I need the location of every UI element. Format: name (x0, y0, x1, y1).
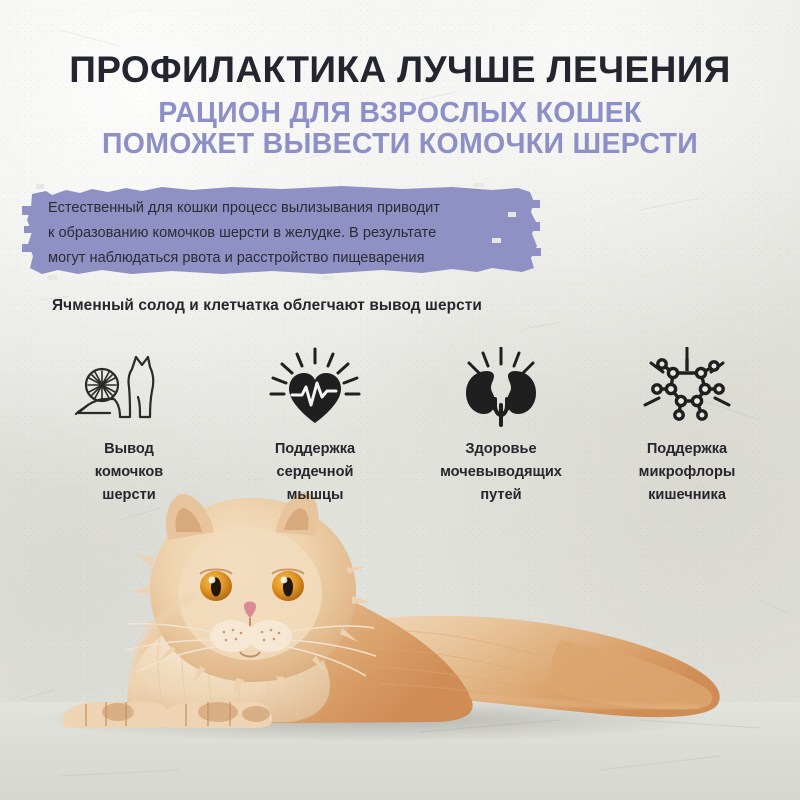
feature-item-urinary: Здоровье мочевыводящих путей (408, 345, 594, 507)
heading-block: ПРОФИЛАКТИКА ЛУЧШЕ ЛЕЧЕНИЯ РАЦИОН ДЛЯ ВЗ… (0, 48, 800, 160)
page-title: ПРОФИЛАКТИКА ЛУЧШЕ ЛЕЧЕНИЯ (0, 48, 800, 92)
feature-label-line-1: Здоровье (408, 438, 594, 461)
banner-line-2: к образованию комочков шерсти в желудке.… (48, 221, 518, 246)
microflora-molecule-icon (594, 345, 780, 429)
heart-pulse-icon (222, 345, 408, 429)
page-subtitle-line-1: РАЦИОН ДЛЯ ВЗРОСЛЫХ КОШЕК (0, 98, 800, 129)
kidneys-icon (408, 345, 594, 429)
feature-label-urinary: Здоровье мочевыводящих путей (408, 438, 594, 507)
feature-label-line-3: шерсти (36, 484, 222, 507)
cat-hairball-icon (36, 345, 222, 429)
feature-item-heart: Поддержка сердечной мышцы (222, 345, 408, 507)
feature-label-line-3: кишечника (594, 484, 780, 507)
feature-label-heart: Поддержка сердечной мышцы (222, 438, 408, 507)
cat-photo (0, 470, 800, 800)
subheadline: Ячменный солод и клетчатка облегчают выв… (52, 297, 482, 315)
banner-paragraph: Естественный для кошки процесс вылизыван… (48, 196, 518, 271)
feature-label-line-2: мочевыводящих (408, 461, 594, 484)
feature-label-line-3: путей (408, 484, 594, 507)
feature-list: Вывод комочков шерсти (36, 345, 780, 507)
feature-label-line-3: мышцы (222, 484, 408, 507)
feature-label-hairball: Вывод комочков шерсти (36, 438, 222, 507)
page-subtitle-line-2: ПОМОЖЕТ ВЫВЕСТИ КОМОЧКИ ШЕРСТИ (0, 129, 800, 160)
feature-label-line-2: комочков (36, 461, 222, 484)
banner-line-1: Естественный для кошки процесс вылизыван… (48, 196, 518, 221)
feature-label-line-2: сердечной (222, 461, 408, 484)
feature-label-microflora: Поддержка микрофлоры кишечника (594, 438, 780, 507)
banner-line-3: могут наблюдаться рвота и расстройство п… (48, 246, 518, 271)
feature-label-line-1: Поддержка (222, 438, 408, 461)
feature-label-line-2: микрофлоры (594, 461, 780, 484)
feature-label-line-1: Вывод (36, 438, 222, 461)
highlight-banner: Естественный для кошки процесс вылизыван… (22, 182, 542, 280)
feature-item-hairball: Вывод комочков шерсти (36, 345, 222, 507)
feature-label-line-1: Поддержка (594, 438, 780, 461)
feature-item-microflora: Поддержка микрофлоры кишечника (594, 345, 780, 507)
poster-canvas: ПРОФИЛАКТИКА ЛУЧШЕ ЛЕЧЕНИЯ РАЦИОН ДЛЯ ВЗ… (0, 0, 800, 800)
